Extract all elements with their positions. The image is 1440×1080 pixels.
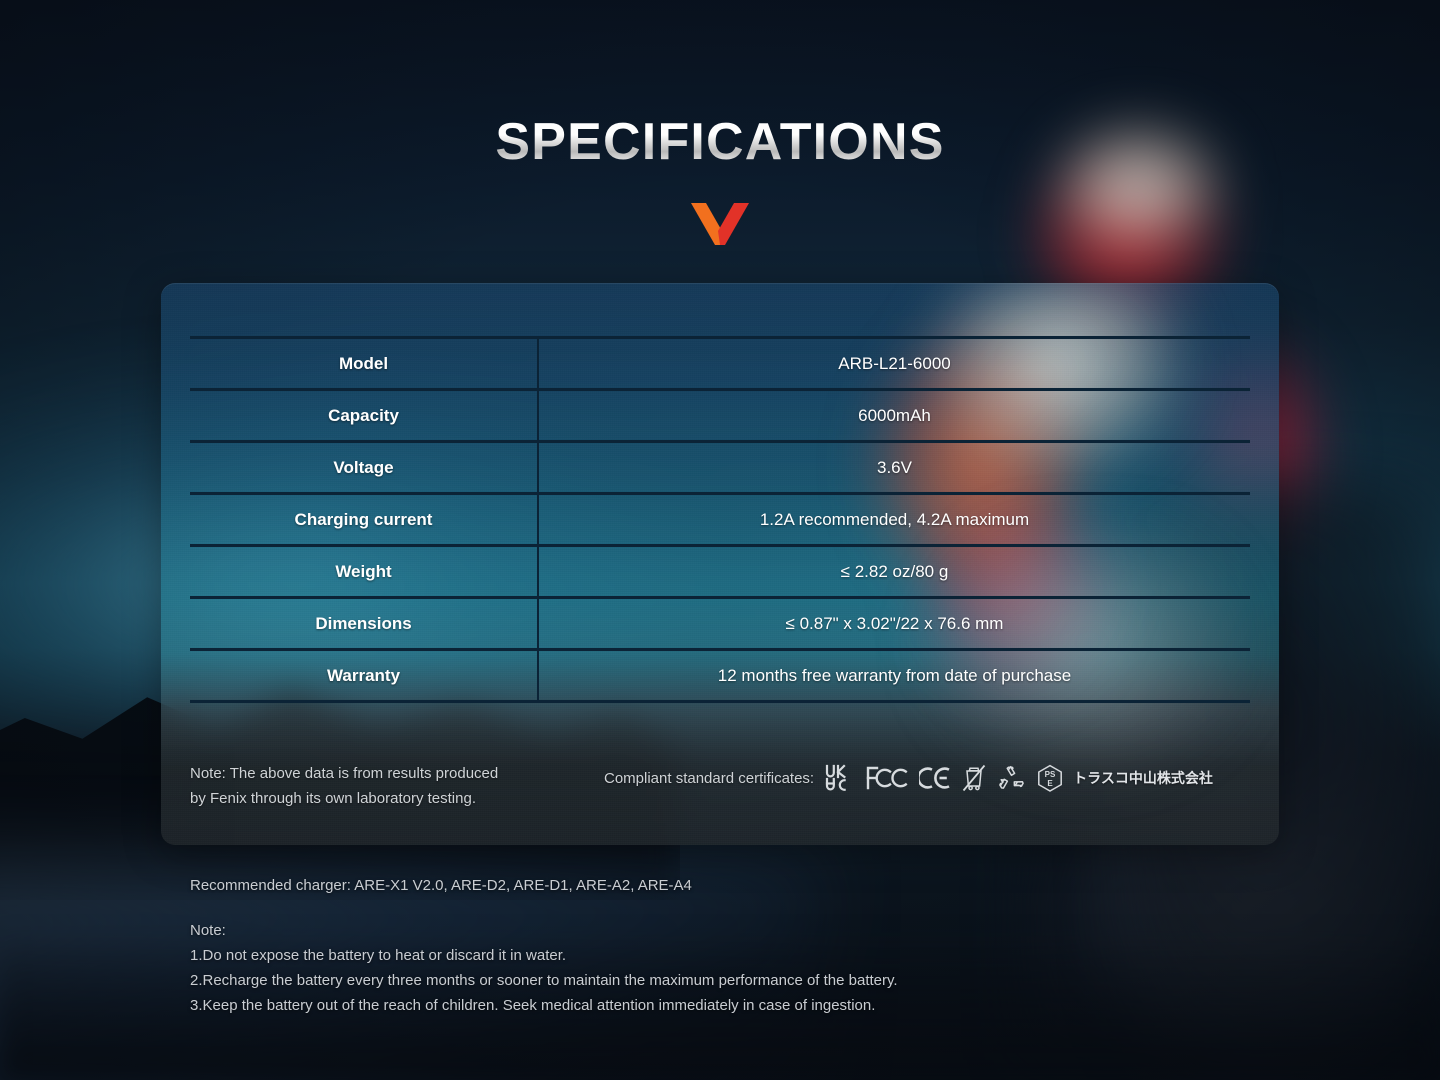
table-row: Capacity 6000mAh [190,390,1250,442]
spec-value-capacity: 6000mAh [538,390,1250,442]
svg-text:PS: PS [1045,770,1056,779]
spec-value-voltage: 3.6V [538,442,1250,494]
spec-label-charging-current: Charging current [190,494,538,546]
compliance-icon-group: PS E トラスコ中山株式会社 [825,764,1213,792]
footer-note-heading: Note: [190,919,1290,943]
laboratory-note-line1: Note: The above data is from results pro… [190,761,590,786]
spec-value-dimensions: ≤ 0.87" x 3.02"/22 x 76.6 mm [538,598,1250,650]
laboratory-note-line2: by Fenix through its own laboratory test… [190,786,590,811]
spec-value-model: ARB-L21-6000 [538,338,1250,390]
spec-label-dimensions: Dimensions [190,598,538,650]
spec-value-warranty: 12 months free warranty from date of pur… [538,650,1250,702]
chevron-down-icon [691,203,749,250]
pse-mark-icon: PS E [1036,764,1064,792]
table-row: Weight ≤ 2.82 oz/80 g [190,546,1250,598]
table-row: Voltage 3.6V [190,442,1250,494]
fcc-mark-icon [866,766,908,790]
specifications-table: Model ARB-L21-6000 Capacity 6000mAh Volt… [190,336,1250,703]
spec-label-warranty: Warranty [190,650,538,702]
spec-label-capacity: Capacity [190,390,538,442]
pse-company-name: トラスコ中山株式会社 [1073,768,1213,788]
footer-note-1: 1.Do not expose the battery to heat or d… [190,943,1290,968]
ukca-mark-icon [825,764,855,792]
page-title-container: SPECIFICATIONS [0,112,1440,172]
specifications-panel: Model ARB-L21-6000 Capacity 6000mAh Volt… [161,283,1279,845]
spec-label-model: Model [190,338,538,390]
spec-label-voltage: Voltage [190,442,538,494]
spec-label-weight: Weight [190,546,538,598]
compliance-label: Compliant standard certificates: [604,770,814,787]
page-root: SPECIFICATIONS Model ARB-L21-6000 Capaci… [0,0,1440,1080]
table-row: Model ARB-L21-6000 [190,338,1250,390]
compliance-certificates: Compliant standard certificates: [604,764,1213,792]
svg-text:E: E [1047,779,1053,788]
footer-notes: Recommended charger: ARE-X1 V2.0, ARE-D2… [190,875,1290,1018]
laboratory-note: Note: The above data is from results pro… [190,761,590,811]
recycling-mark-icon [997,764,1025,792]
spec-value-charging-current: 1.2A recommended, 4.2A maximum [538,494,1250,546]
table-row: Warranty 12 months free warranty from da… [190,650,1250,702]
ce-mark-icon [919,766,951,790]
weee-bin-mark-icon [962,764,986,792]
table-row: Charging current 1.2A recommended, 4.2A … [190,494,1250,546]
footer-note-3: 3.Keep the battery out of the reach of c… [190,993,1290,1018]
section-divider [0,203,1440,250]
page-title: SPECIFICATIONS [495,112,944,172]
table-row: Dimensions ≤ 0.87" x 3.02"/22 x 76.6 mm [190,598,1250,650]
recommended-charger-line: Recommended charger: ARE-X1 V2.0, ARE-D2… [190,875,1290,897]
footer-note-2: 2.Recharge the battery every three month… [190,968,1290,993]
spec-value-weight: ≤ 2.82 oz/80 g [538,546,1250,598]
